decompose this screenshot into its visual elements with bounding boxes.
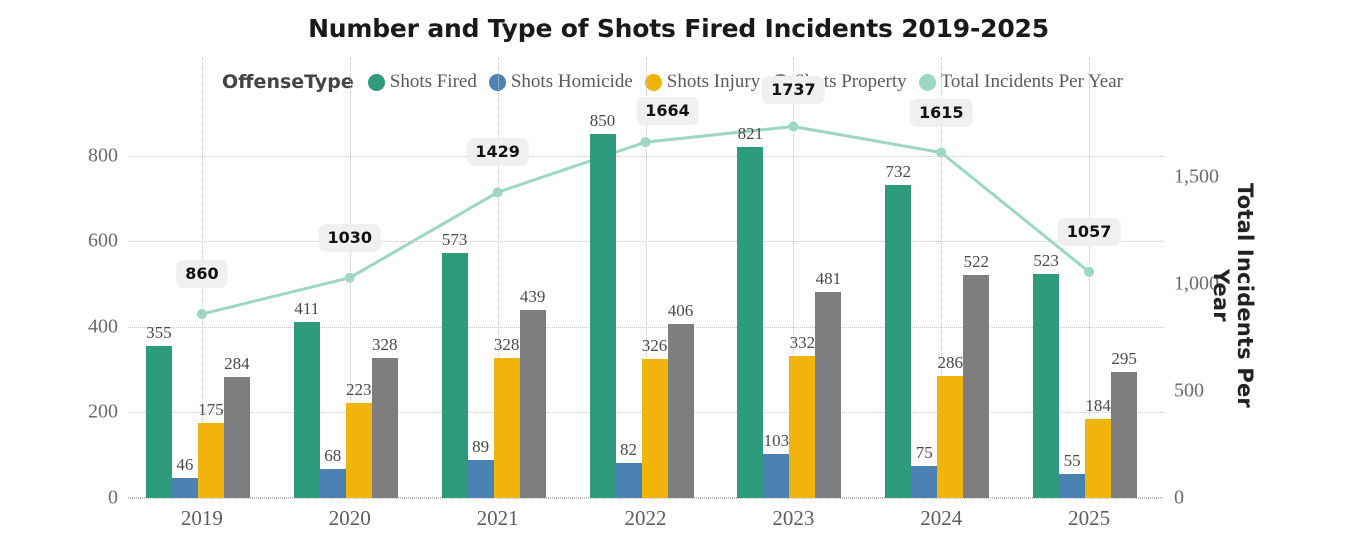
bar[interactable]	[468, 460, 494, 498]
x-axis-tick-label: 2024	[871, 506, 1011, 531]
y-axis-right-tick: 0	[1174, 487, 1244, 510]
bar[interactable]	[1111, 372, 1137, 498]
legend-item-shots-injury[interactable]: Shots Injury	[645, 71, 760, 93]
bar[interactable]	[224, 377, 250, 498]
legend-item-shots-homicide[interactable]: Shots Homicide	[489, 71, 633, 93]
legend-label: Shots Injury	[667, 71, 760, 93]
legend-item-shots-fired[interactable]: Shots Fired	[368, 71, 477, 93]
bar[interactable]	[642, 359, 668, 498]
bar-value-label: 328	[358, 335, 412, 355]
bar[interactable]	[172, 478, 198, 498]
legend-label: Shots Fired	[390, 71, 477, 93]
legend-swatch-icon	[368, 74, 385, 91]
y-axis-right-title: Total Incidents Per Year	[1231, 155, 1257, 435]
x-axis-tick-label: 2022	[576, 506, 716, 531]
bar[interactable]	[198, 423, 224, 498]
bar[interactable]	[789, 356, 815, 498]
total-value-badge: 1057	[1058, 218, 1121, 246]
bar[interactable]	[763, 454, 789, 498]
gridline-horizontal	[128, 498, 1163, 499]
bar-value-label: 439	[506, 287, 560, 307]
y-axis-left-tick: 200	[48, 401, 118, 424]
bar-value-label: 850	[576, 111, 630, 131]
legend-label: Shots Homicide	[511, 71, 633, 93]
bar-value-label: 411	[280, 299, 334, 319]
bar[interactable]	[520, 310, 546, 498]
total-value-badge: 1664	[636, 97, 699, 125]
bar[interactable]	[294, 322, 320, 498]
x-axis-tick-label: 2019	[132, 506, 272, 531]
y-axis-left-tick: 400	[48, 315, 118, 338]
bar[interactable]	[442, 253, 468, 498]
bar[interactable]	[911, 466, 937, 498]
bar-value-label: 295	[1097, 349, 1151, 369]
bar[interactable]	[372, 358, 398, 498]
legend-swatch-icon	[645, 74, 662, 91]
total-value-badge: 1615	[910, 99, 973, 127]
bar-value-label: 732	[871, 162, 925, 182]
total-value-badge: 1030	[319, 224, 382, 252]
y-axis-left-tick: 600	[48, 230, 118, 253]
bar[interactable]	[815, 292, 841, 498]
plot-area: 3554617528441168223328573893284398508232…	[128, 113, 1163, 498]
shots-fired-chart: Number and Type of Shots Fired Incidents…	[0, 0, 1357, 547]
bar-value-label: 406	[654, 301, 708, 321]
bar[interactable]	[494, 358, 520, 498]
bar-value-label: 522	[949, 252, 1003, 272]
bar[interactable]	[1059, 474, 1085, 498]
legend-label: Total Incidents Per Year	[941, 71, 1123, 93]
bar[interactable]	[668, 324, 694, 498]
bar[interactable]	[937, 376, 963, 498]
bar[interactable]	[1085, 419, 1111, 498]
bar-value-label: 573	[428, 230, 482, 250]
x-axis-tick-label: 2025	[1019, 506, 1159, 531]
y-axis-left-tick: 800	[48, 144, 118, 167]
page-title: Number and Type of Shots Fired Incidents…	[0, 14, 1357, 43]
bar-value-label: 355	[132, 323, 186, 343]
x-axis-tick-label: 2020	[280, 506, 420, 531]
y-axis-left-tick: 0	[48, 487, 118, 510]
bar-value-label: 821	[723, 124, 777, 144]
bar-value-label: 523	[1019, 251, 1073, 271]
x-axis-tick-label: 2021	[428, 506, 568, 531]
total-value-badge: 860	[176, 260, 227, 288]
bar[interactable]	[616, 463, 642, 498]
total-value-badge: 1429	[466, 138, 529, 166]
chart-legend: OffenseType Shots Fired Shots Homicide S…	[0, 71, 1357, 93]
bar-value-label: 284	[210, 354, 264, 374]
total-value-badge: 1737	[762, 76, 825, 104]
bar[interactable]	[346, 403, 372, 498]
bar[interactable]	[320, 469, 346, 498]
legend-item-total-incidents[interactable]: Total Incidents Per Year	[919, 71, 1123, 93]
legend-title: OffenseType	[222, 71, 354, 93]
bar-value-label: 481	[801, 269, 855, 289]
bar[interactable]	[963, 275, 989, 498]
x-axis-tick-label: 2023	[723, 506, 863, 531]
legend-swatch-icon	[919, 74, 936, 91]
